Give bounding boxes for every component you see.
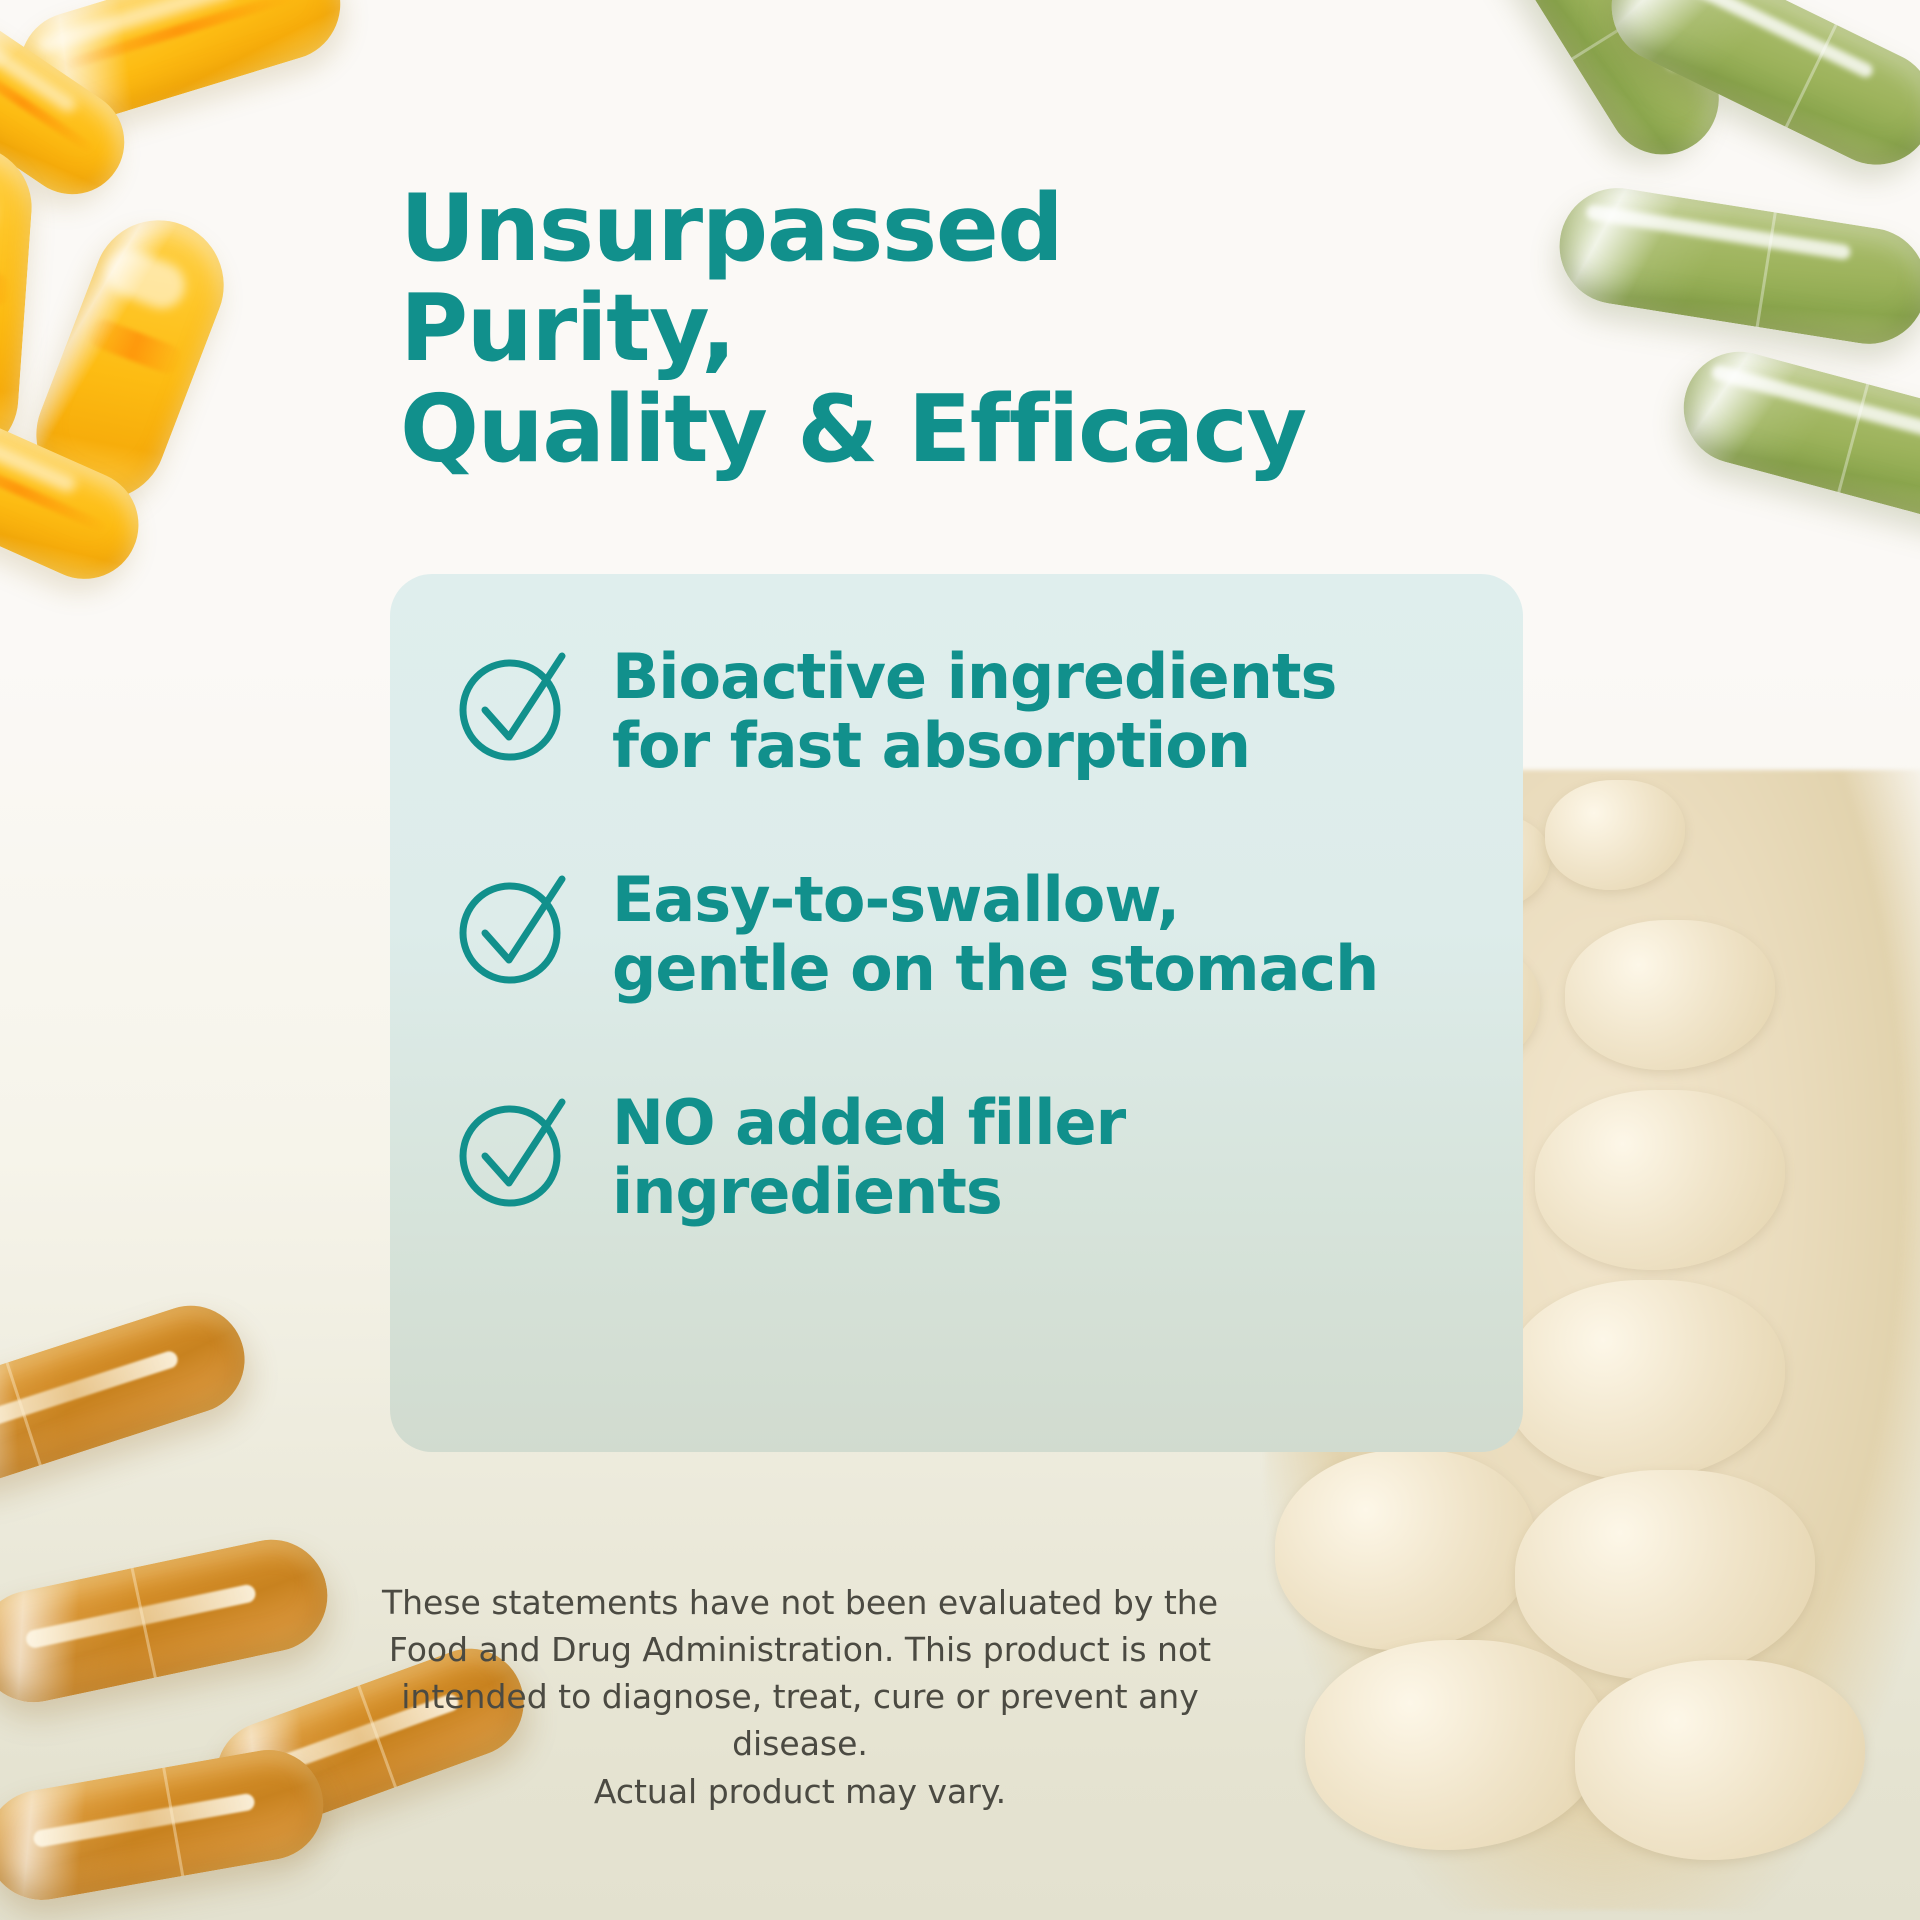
actual-product-note: Actual product may vary. [360,1772,1240,1811]
check-circle-icon [452,865,580,993]
headline-line-2: Quality & Efficacy [400,379,1420,479]
benefits-list: Bioactive ingredients for fast absorptio… [452,636,1483,1227]
list-item-text: Easy-to-swallow, gentle on the stomach [612,859,1378,1004]
benefit-3-line-1: NO added filler [612,1088,1125,1157]
fda-disclaimer-text: These statements have not been evaluated… [360,1580,1240,1767]
list-item-text: Bioactive ingredients for fast absorptio… [612,636,1336,781]
promo-image-canvas: Unsurpassed Purity, Quality & Efficacy B… [0,0,1920,1920]
check-circle-icon [452,1088,580,1216]
list-item: Bioactive ingredients for fast absorptio… [452,636,1483,781]
benefits-card: Bioactive ingredients for fast absorptio… [390,574,1523,1452]
headline-line-1: Unsurpassed Purity, [400,174,1062,382]
benefit-2-line-2: gentle on the stomach [612,934,1378,1003]
list-item-text: NO added filler ingredients [612,1082,1125,1227]
list-item: NO added filler ingredients [452,1082,1483,1227]
page-title: Unsurpassed Purity, Quality & Efficacy [400,178,1420,479]
benefit-1-line-1: Bioactive ingredients [612,642,1336,711]
benefit-2-line-1: Easy-to-swallow, [612,865,1378,934]
content-layer: Unsurpassed Purity, Quality & Efficacy B… [0,0,1920,1920]
benefit-1-line-2: for fast absorption [612,711,1336,780]
list-item: Easy-to-swallow, gentle on the stomach [452,859,1483,1004]
benefit-3-line-2: ingredients [612,1157,1125,1226]
check-circle-icon [452,642,580,770]
